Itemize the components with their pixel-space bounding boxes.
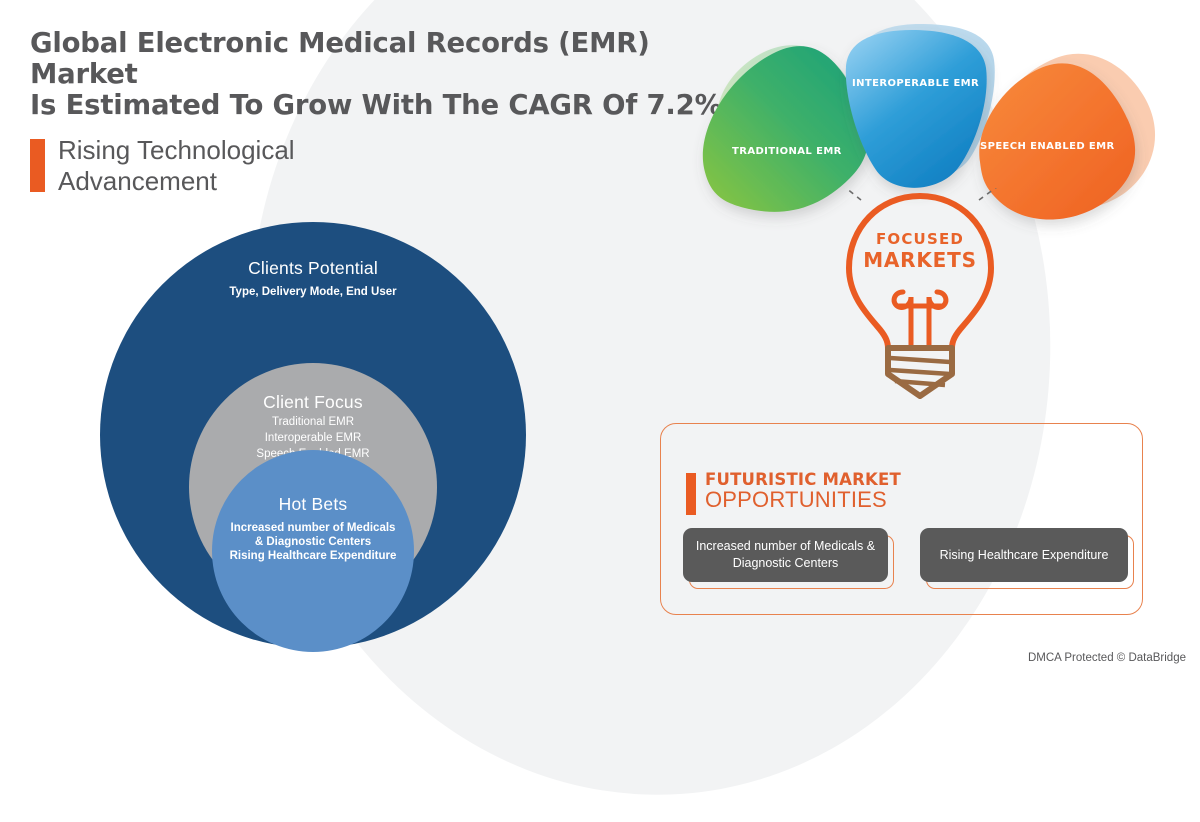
opportunities-title-wrap: FUTURISTIC MARKET OPPORTUNITIES <box>705 471 901 512</box>
circle-inner-text: Hot Bets Increased number of Medicals & … <box>212 494 414 563</box>
futuristic-opportunities-panel: FUTURISTIC MARKET OPPORTUNITIES Increase… <box>660 423 1143 615</box>
blob-label-speech-enabled-emr: SPEECH ENABLED EMR <box>980 141 1115 152</box>
bulb-text-line-1: FOCUSED <box>835 230 1005 248</box>
opportunities-accent-bar <box>686 473 696 515</box>
connector-left <box>841 188 861 200</box>
circle-mid-line-2: Interoperable EMR <box>189 431 437 445</box>
page-title-line-1: Global Electronic Medical Records (EMR) … <box>30 28 750 90</box>
opportunities-title-line-1: FUTURISTIC MARKET <box>705 471 901 488</box>
bulb-glass <box>849 196 991 348</box>
title-block: Global Electronic Medical Records (EMR) … <box>30 28 750 197</box>
blob-label-traditional-emr: TRADITIONAL EMR <box>732 146 842 157</box>
infographic-canvas: Global Electronic Medical Records (EMR) … <box>0 0 1200 675</box>
subtitle-line-1: Rising Technological <box>58 135 295 166</box>
bulb-svg <box>835 188 1020 403</box>
subtitle-wrap: Rising Technological Advancement <box>30 135 750 197</box>
blob-label-interoperable-emr: INTEROPERABLE EMR <box>852 78 979 89</box>
subtitle: Rising Technological Advancement <box>58 135 295 197</box>
opportunity-card-wrap: Increased number of Medicals & Diagnosti… <box>683 528 888 582</box>
subtitle-line-2: Advancement <box>58 166 295 197</box>
opportunity-card[interactable]: Increased number of Medicals & Diagnosti… <box>683 528 888 582</box>
page-title-line-2: Is Estimated To Grow With The CAGR Of 7.… <box>30 90 750 121</box>
circle-mid-line-1: Traditional EMR <box>189 415 437 429</box>
circle-inner-line-1: Increased number of Medicals <box>212 521 414 535</box>
opportunities-title-line-2: OPPORTUNITIES <box>705 488 901 512</box>
footer-copyright: DMCA Protected © DataBridge <box>1028 652 1186 664</box>
connector-right <box>979 188 1001 200</box>
circle-mid-title: Client Focus <box>189 392 437 413</box>
opportunity-card-wrap: Rising Healthcare Expenditure <box>920 528 1128 582</box>
circle-outer-subtitle: Type, Delivery Mode, End User <box>100 285 526 300</box>
opportunity-cards-list: Increased number of Medicals & Diagnosti… <box>683 528 1128 582</box>
interoperable-emr-blob[interactable] <box>846 30 987 188</box>
circle-inner-line-3: Rising Healthcare Expenditure <box>212 549 414 563</box>
circle-outer-text: Clients Potential Type, Delivery Mode, E… <box>100 258 526 300</box>
circle-outer-title: Clients Potential <box>100 258 526 279</box>
bulb-filament-left <box>894 292 911 348</box>
focused-markets-bulb[interactable]: FOCUSED MARKETS <box>835 188 1020 403</box>
bulb-filament-right <box>929 292 946 348</box>
opportunities-heading: FUTURISTIC MARKET OPPORTUNITIES <box>686 471 901 515</box>
concentric-circles-diagram: Clients Potential Type, Delivery Mode, E… <box>100 222 526 648</box>
bulb-text-line-2: MARKETS <box>835 248 1005 272</box>
circle-hot-bets[interactable]: Hot Bets Increased number of Medicals & … <box>212 450 414 652</box>
circle-inner-line-2: & Diagnostic Centers <box>212 535 414 549</box>
circle-inner-title: Hot Bets <box>212 494 414 515</box>
orange-accent-bar <box>30 139 45 192</box>
opportunity-card[interactable]: Rising Healthcare Expenditure <box>920 528 1128 582</box>
traditional-emr-blob[interactable] <box>703 46 868 212</box>
